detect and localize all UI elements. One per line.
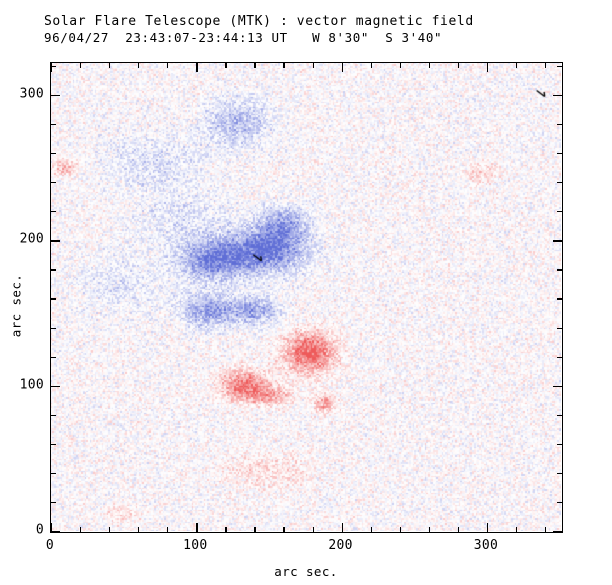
axis-tick xyxy=(557,444,562,445)
axis-tick xyxy=(51,357,56,358)
axis-tick xyxy=(80,63,81,68)
axis-tick xyxy=(225,63,226,68)
axis-tick xyxy=(51,124,56,125)
axis-tick xyxy=(51,415,56,416)
axis-tick xyxy=(51,211,56,212)
axis-tick xyxy=(109,527,110,532)
axis-tick xyxy=(254,527,255,532)
axis-tick xyxy=(371,527,372,532)
y-axis-tick-label: 0 xyxy=(2,523,44,538)
axis-tick xyxy=(51,269,56,270)
axis-tick xyxy=(557,357,562,358)
axis-tick xyxy=(196,523,197,532)
axis-tick xyxy=(138,63,139,68)
axis-tick xyxy=(557,66,562,67)
page-title: Solar Flare Telescope (MTK) : vector mag… xyxy=(44,14,584,30)
axis-tick xyxy=(51,240,60,241)
axis-tick xyxy=(553,386,562,387)
axis-tick xyxy=(138,527,139,532)
axis-tick xyxy=(51,444,56,445)
magnetogram-plot-frame xyxy=(50,62,563,533)
axis-tick xyxy=(51,502,56,503)
axis-tick xyxy=(196,63,197,72)
observation-subtitle: 96/04/27 23:43:07-23:44:13 UT W 8'30" S … xyxy=(44,30,584,45)
magnetogram-image xyxy=(51,63,561,531)
x-axis-caption: arc sec. xyxy=(0,564,612,579)
x-axis-tick-label: 200 xyxy=(328,538,352,553)
axis-tick xyxy=(516,527,517,532)
axis-tick xyxy=(429,527,430,532)
axis-tick xyxy=(313,63,314,68)
y-axis-caption: arc sec. xyxy=(9,266,24,346)
axis-tick xyxy=(545,527,546,532)
axis-tick xyxy=(342,63,343,72)
axis-tick xyxy=(109,63,110,68)
x-axis-tick-label: 100 xyxy=(183,538,207,553)
axis-tick xyxy=(51,328,56,329)
axis-tick xyxy=(51,386,60,387)
axis-tick xyxy=(557,182,562,183)
x-axis-tick-label: 300 xyxy=(474,538,498,553)
y-axis-tick-label: 300 xyxy=(2,86,44,101)
axis-tick xyxy=(342,523,343,532)
axis-tick xyxy=(400,63,401,68)
axis-tick xyxy=(557,124,562,125)
axis-tick xyxy=(51,153,56,154)
axis-tick xyxy=(557,502,562,503)
axis-tick xyxy=(283,527,284,532)
axis-tick xyxy=(167,63,168,68)
axis-tick xyxy=(545,63,546,68)
axis-tick xyxy=(371,63,372,68)
axis-tick xyxy=(400,527,401,532)
axis-tick xyxy=(557,328,562,329)
axis-tick xyxy=(51,95,60,96)
axis-tick xyxy=(553,95,562,96)
axis-tick xyxy=(51,66,56,67)
axis-tick xyxy=(429,63,430,68)
axis-tick xyxy=(557,298,562,299)
axis-tick xyxy=(557,211,562,212)
y-axis-tick-label: 100 xyxy=(2,377,44,392)
axis-tick xyxy=(254,63,255,68)
axis-tick xyxy=(487,523,488,532)
axis-tick xyxy=(557,269,562,270)
axis-tick xyxy=(51,63,52,72)
axis-tick xyxy=(225,527,226,532)
axis-tick xyxy=(557,415,562,416)
axis-tick xyxy=(557,473,562,474)
axis-tick xyxy=(80,527,81,532)
axis-tick xyxy=(553,240,562,241)
axis-tick xyxy=(283,63,284,68)
axis-tick xyxy=(167,527,168,532)
axis-tick xyxy=(51,182,56,183)
axis-tick xyxy=(458,63,459,68)
axis-tick xyxy=(51,473,56,474)
axis-tick xyxy=(51,298,56,299)
axis-tick xyxy=(313,527,314,532)
axis-tick xyxy=(557,153,562,154)
axis-tick xyxy=(458,527,459,532)
axis-tick xyxy=(553,531,562,532)
y-axis-tick-label: 200 xyxy=(2,232,44,247)
axis-tick xyxy=(51,531,60,532)
x-axis-tick-label: 0 xyxy=(46,538,54,553)
title-block: Solar Flare Telescope (MTK) : vector mag… xyxy=(44,14,584,45)
axis-tick xyxy=(516,63,517,68)
axis-tick xyxy=(487,63,488,72)
